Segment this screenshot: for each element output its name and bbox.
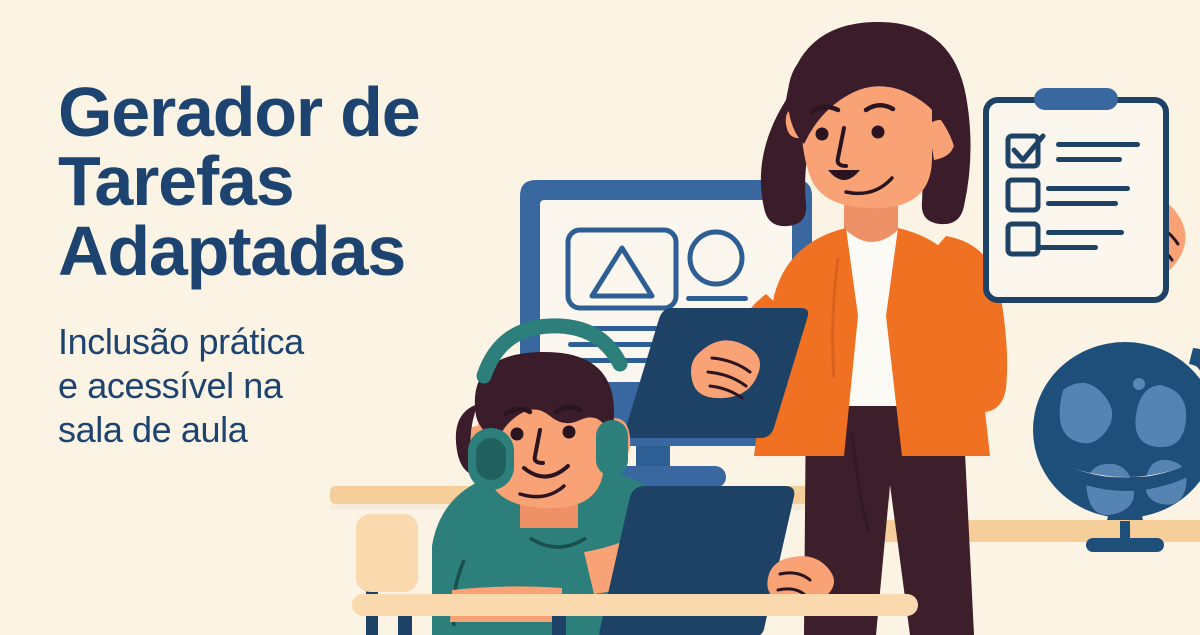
student-eye-right bbox=[563, 426, 576, 439]
teacher-eye-left bbox=[816, 128, 829, 141]
clipboard-body bbox=[986, 100, 1166, 300]
promotional-banner: Gerador de Tarefas Adaptadas Inclusão pr… bbox=[0, 0, 1200, 635]
student-eye-left bbox=[511, 428, 524, 441]
clipboard-clip bbox=[1034, 88, 1118, 110]
desk-top bbox=[352, 594, 918, 616]
desk-leg-right bbox=[552, 616, 566, 635]
desk-leg-left bbox=[398, 616, 412, 635]
headphone-cup-right bbox=[596, 420, 628, 476]
teacher-eye-right bbox=[872, 126, 885, 139]
clipboard bbox=[986, 88, 1166, 300]
classroom-illustration bbox=[0, 0, 1200, 635]
chair-back bbox=[356, 514, 418, 592]
